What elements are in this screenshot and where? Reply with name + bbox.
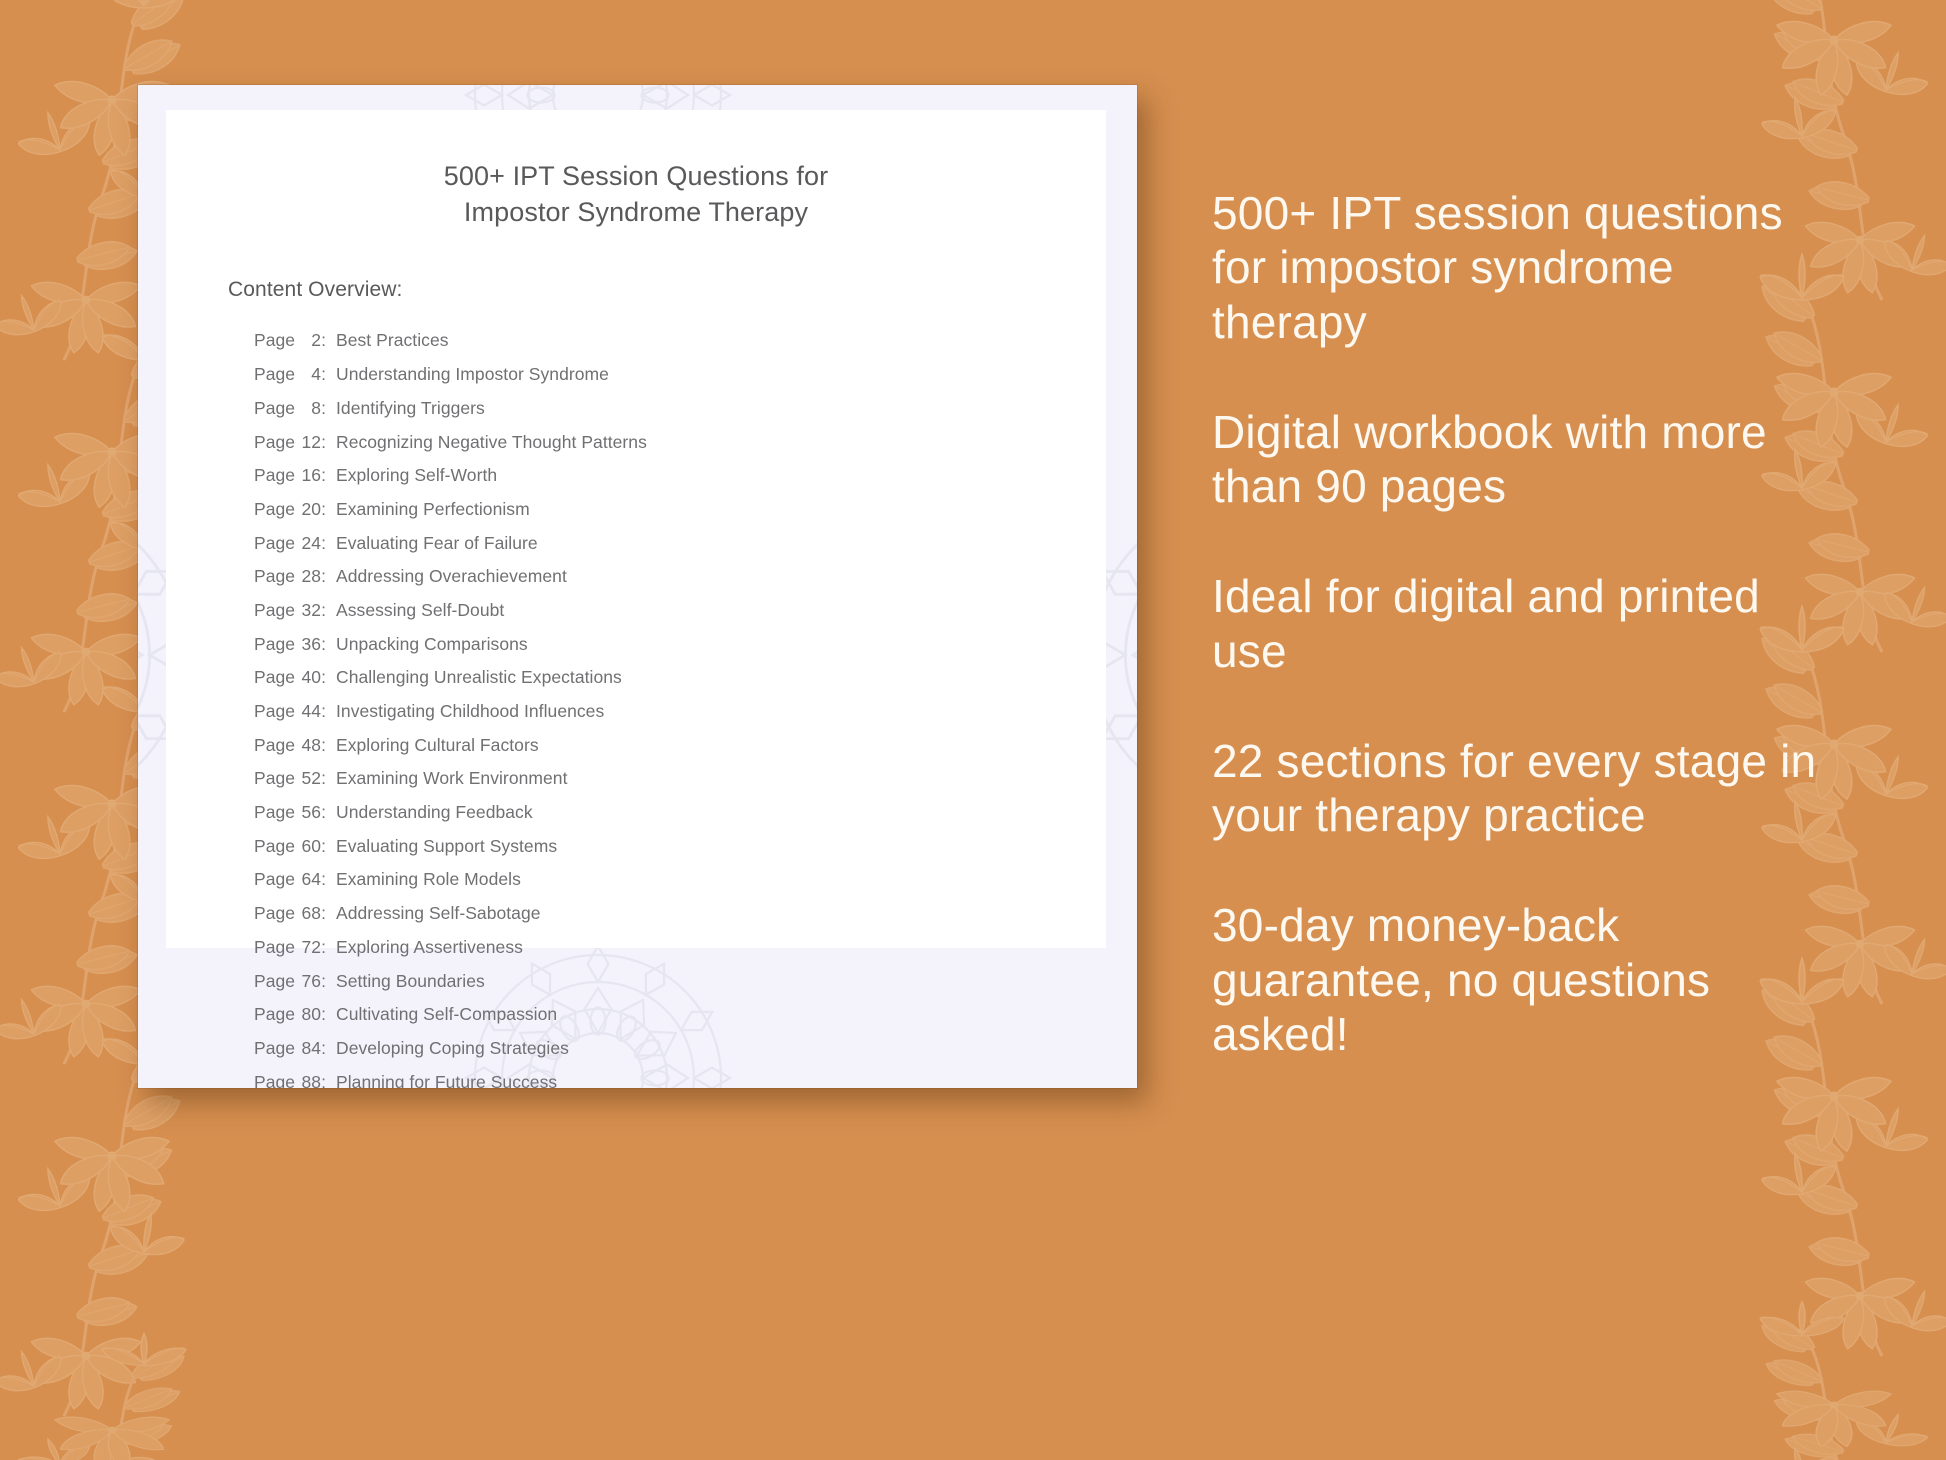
toc-entry-colon: :	[321, 332, 336, 350]
toc-entry-colon: :	[321, 669, 336, 687]
toc-entry-page-number: 76	[295, 973, 321, 991]
toc-entry[interactable]: Page80:Cultivating Self-Compassion	[254, 998, 1106, 1032]
toc-entry-page-word: Page	[254, 905, 295, 923]
toc-entry-title: Evaluating Fear of Failure	[336, 535, 538, 553]
toc-entry-title: Best Practices	[336, 332, 449, 350]
toc-entry-title: Examining Work Environment	[336, 770, 567, 788]
toc-entry-page-word: Page	[254, 332, 295, 350]
toc-entry-page-word: Page	[254, 568, 295, 586]
page-title-line-2: Impostor Syndrome Therapy	[236, 194, 1036, 230]
toc-entry-page-number: 56	[295, 804, 321, 822]
toc-entry-page-word: Page	[254, 636, 295, 654]
toc-entry-colon: :	[321, 703, 336, 721]
toc-entry-colon: :	[321, 973, 336, 991]
toc-entry-title: Recognizing Negative Thought Patterns	[336, 434, 647, 452]
toc-entry-colon: :	[321, 568, 336, 586]
toc-entry-colon: :	[321, 366, 336, 384]
toc-entry-colon: :	[321, 636, 336, 654]
toc-entry-title: Investigating Childhood Influences	[336, 703, 604, 721]
toc-entry-title: Exploring Self-Worth	[336, 467, 497, 485]
toc-entry-page-number: 8	[295, 400, 321, 418]
toc-entry-page-word: Page	[254, 1006, 295, 1024]
table-of-contents: Page2:Best PracticesPage4:Understanding …	[254, 324, 1106, 1088]
promo-text-column: 500+ IPT session questions for impostor …	[1212, 186, 1832, 1061]
toc-entry-title: Developing Coping Strategies	[336, 1040, 569, 1058]
toc-entry-page-number: 20	[295, 501, 321, 519]
toc-entry-page-number: 4	[295, 366, 321, 384]
toc-entry-page-number: 52	[295, 770, 321, 788]
toc-entry[interactable]: Page56:Understanding Feedback	[254, 796, 1106, 830]
toc-entry-colon: :	[321, 535, 336, 553]
toc-entry-page-number: 60	[295, 838, 321, 856]
toc-entry[interactable]: Page20:Examining Perfectionism	[254, 493, 1106, 527]
toc-entry-page-number: 28	[295, 568, 321, 586]
toc-entry-page-word: Page	[254, 400, 295, 418]
toc-entry-page-number: 2	[295, 332, 321, 350]
toc-entry-title: Exploring Assertiveness	[336, 939, 523, 957]
toc-entry[interactable]: Page44:Investigating Childhood Influence…	[254, 695, 1106, 729]
toc-entry[interactable]: Page60:Evaluating Support Systems	[254, 830, 1106, 864]
toc-entry-colon: :	[321, 434, 336, 452]
toc-entry[interactable]: Page8:Identifying Triggers	[254, 392, 1106, 426]
toc-entry-title: Unpacking Comparisons	[336, 636, 528, 654]
toc-entry[interactable]: Page88:Planning for Future Success	[254, 1065, 1106, 1088]
toc-entry-page-word: Page	[254, 703, 295, 721]
toc-entry-page-word: Page	[254, 973, 295, 991]
toc-entry-page-number: 24	[295, 535, 321, 553]
toc-entry-colon: :	[321, 1006, 336, 1024]
toc-entry-page-word: Page	[254, 434, 295, 452]
toc-entry-colon: :	[321, 1074, 336, 1088]
toc-entry-colon: :	[321, 838, 336, 856]
toc-entry-page-number: 32	[295, 602, 321, 620]
content-overview-label: Content Overview:	[228, 278, 1106, 302]
promo-bullet: Ideal for digital and printed use	[1212, 569, 1832, 678]
toc-entry-colon: :	[321, 939, 336, 957]
toc-entry-page-word: Page	[254, 366, 295, 384]
toc-entry[interactable]: Page76:Setting Boundaries	[254, 964, 1106, 998]
toc-entry-title: Identifying Triggers	[336, 400, 485, 418]
page-title-line-1: 500+ IPT Session Questions for	[236, 158, 1036, 194]
toc-entry-page-word: Page	[254, 535, 295, 553]
toc-entry-colon: :	[321, 602, 336, 620]
toc-entry-title: Addressing Self-Sabotage	[336, 905, 541, 923]
toc-entry-colon: :	[321, 737, 336, 755]
toc-entry-title: Exploring Cultural Factors	[336, 737, 539, 755]
toc-entry[interactable]: Page4:Understanding Impostor Syndrome	[254, 358, 1106, 392]
toc-entry-page-number: 12	[295, 434, 321, 452]
poster-canvas: 500+ IPT Session Questions for Impostor …	[0, 0, 1946, 1460]
document-page-sheet: 500+ IPT Session Questions for Impostor …	[166, 110, 1106, 948]
toc-entry-page-word: Page	[254, 1074, 295, 1088]
page-title: 500+ IPT Session Questions for Impostor …	[166, 158, 1106, 230]
toc-entry-title: Assessing Self-Doubt	[336, 602, 504, 620]
promo-bullet: 30-day money-back guarantee, no question…	[1212, 898, 1832, 1061]
toc-entry-page-number: 80	[295, 1006, 321, 1024]
promo-bullet: Digital workbook with more than 90 pages	[1212, 405, 1832, 514]
toc-entry-page-word: Page	[254, 669, 295, 687]
toc-entry-title: Addressing Overachievement	[336, 568, 567, 586]
toc-entry[interactable]: Page48:Exploring Cultural Factors	[254, 729, 1106, 763]
toc-entry-page-word: Page	[254, 501, 295, 519]
toc-entry-page-word: Page	[254, 939, 295, 957]
toc-entry-title: Planning for Future Success	[336, 1074, 557, 1088]
toc-entry-colon: :	[321, 905, 336, 923]
toc-entry-page-word: Page	[254, 804, 295, 822]
toc-entry[interactable]: Page32:Assessing Self-Doubt	[254, 594, 1106, 628]
toc-entry-page-number: 72	[295, 939, 321, 957]
toc-entry-page-word: Page	[254, 838, 295, 856]
toc-entry-colon: :	[321, 1040, 336, 1058]
toc-entry-title: Examining Perfectionism	[336, 501, 530, 519]
toc-entry[interactable]: Page84:Developing Coping Strategies	[254, 1032, 1106, 1066]
toc-entry-colon: :	[321, 871, 336, 889]
toc-entry-title: Understanding Impostor Syndrome	[336, 366, 609, 384]
toc-entry-colon: :	[321, 804, 336, 822]
toc-entry-title: Challenging Unrealistic Expectations	[336, 669, 622, 687]
toc-entry-page-number: 36	[295, 636, 321, 654]
toc-entry-page-number: 64	[295, 871, 321, 889]
toc-entry-page-word: Page	[254, 737, 295, 755]
toc-entry-page-number: 48	[295, 737, 321, 755]
toc-entry-title: Evaluating Support Systems	[336, 838, 557, 856]
document-preview-card[interactable]: 500+ IPT Session Questions for Impostor …	[138, 85, 1137, 1088]
toc-entry[interactable]: Page68:Addressing Self-Sabotage	[254, 897, 1106, 931]
toc-entry-page-number: 44	[295, 703, 321, 721]
toc-entry-page-number: 88	[295, 1074, 321, 1088]
toc-entry-colon: :	[321, 400, 336, 418]
toc-entry-colon: :	[321, 467, 336, 485]
toc-entry[interactable]: Page72:Exploring Assertiveness	[254, 931, 1106, 965]
toc-entry-page-word: Page	[254, 467, 295, 485]
toc-entry-page-number: 68	[295, 905, 321, 923]
toc-entry-title: Examining Role Models	[336, 871, 521, 889]
toc-entry[interactable]: Page64:Examining Role Models	[254, 863, 1106, 897]
toc-entry-colon: :	[321, 770, 336, 788]
toc-entry[interactable]: Page16:Exploring Self-Worth	[254, 459, 1106, 493]
toc-entry-page-number: 16	[295, 467, 321, 485]
toc-entry[interactable]: Page24:Evaluating Fear of Failure	[254, 526, 1106, 560]
toc-entry-title: Cultivating Self-Compassion	[336, 1006, 557, 1024]
toc-entry-title: Setting Boundaries	[336, 973, 485, 991]
toc-entry[interactable]: Page2:Best Practices	[254, 324, 1106, 358]
toc-entry-page-number: 40	[295, 669, 321, 687]
toc-entry-page-word: Page	[254, 871, 295, 889]
toc-entry-title: Understanding Feedback	[336, 804, 533, 822]
toc-entry[interactable]: Page36:Unpacking Comparisons	[254, 628, 1106, 662]
toc-entry[interactable]: Page52:Examining Work Environment	[254, 762, 1106, 796]
toc-entry-page-word: Page	[254, 770, 295, 788]
promo-bullet: 500+ IPT session questions for impostor …	[1212, 186, 1832, 349]
toc-entry-colon: :	[321, 501, 336, 519]
toc-entry-page-word: Page	[254, 602, 295, 620]
promo-bullet: 22 sections for every stage in your ther…	[1212, 734, 1832, 843]
toc-entry-page-number: 84	[295, 1040, 321, 1058]
toc-entry[interactable]: Page12:Recognizing Negative Thought Patt…	[254, 425, 1106, 459]
toc-entry[interactable]: Page28:Addressing Overachievement	[254, 560, 1106, 594]
toc-entry[interactable]: Page40:Challenging Unrealistic Expectati…	[254, 661, 1106, 695]
toc-entry-page-word: Page	[254, 1040, 295, 1058]
